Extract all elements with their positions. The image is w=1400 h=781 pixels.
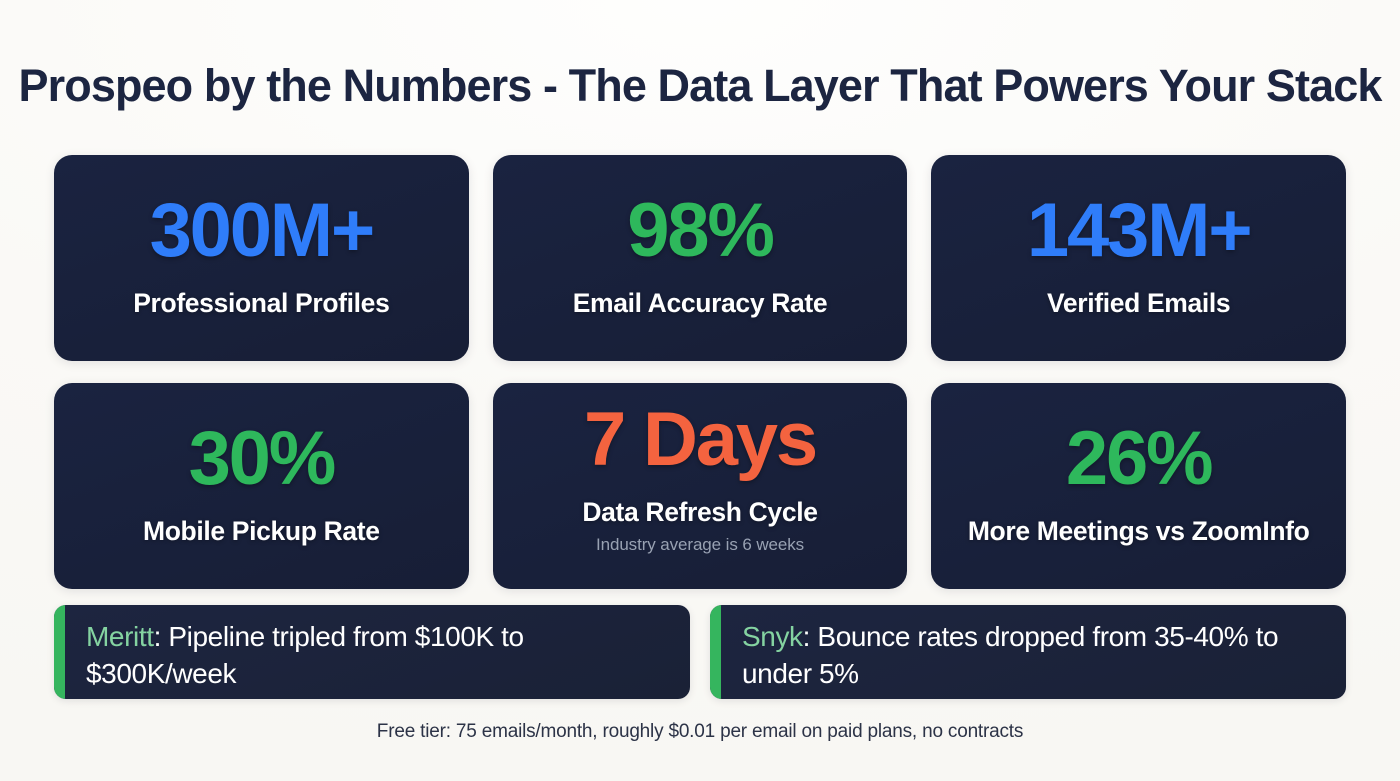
footer-pricing-note: Free tier: 75 emails/month, roughly $0.0… [0,721,1400,743]
quote-company-name: Meritt [86,621,154,652]
stat-value: 26% [1066,421,1212,500]
stat-label: Verified Emails [1047,288,1230,319]
quote-row: Meritt: Pipeline tripled from $100K to $… [54,605,1346,699]
infographic-page: Prospeo by the Numbers - The Data Layer … [0,0,1400,781]
quote-accent-bar [710,605,721,699]
stat-card: 30% Mobile Pickup Rate [54,383,469,589]
stat-card-grid: 300M+ Professional Profiles 98% Email Ac… [54,155,1346,589]
quote-accent-bar [54,605,65,699]
stat-card: 300M+ Professional Profiles [54,155,469,361]
quote-company-name: Snyk [742,621,803,652]
stat-card: 26% More Meetings vs ZoomInfo [931,383,1346,589]
stat-value: 30% [189,421,335,500]
stat-label: Data Refresh Cycle [582,497,817,528]
page-title: Prospeo by the Numbers - The Data Layer … [0,0,1400,110]
stat-card: 7 Days Data Refresh Cycle Industry avera… [493,383,908,589]
stat-value: 98% [627,193,773,272]
quote-text: Snyk: Bounce rates dropped from 35-40% t… [742,618,1328,692]
quote-body: Bounce rates dropped from 35-40% to unde… [742,621,1278,689]
stat-card: 98% Email Accuracy Rate [493,155,908,361]
quote-card: Meritt: Pipeline tripled from $100K to $… [54,605,690,699]
stat-value: 143M+ [1027,193,1251,272]
stat-label: Professional Profiles [133,288,389,319]
stat-label: Email Accuracy Rate [573,288,828,319]
stat-card: 143M+ Verified Emails [931,155,1346,361]
stat-sub-caption: Industry average is 6 weeks [596,535,804,555]
quote-separator: : [803,621,818,652]
quote-card: Snyk: Bounce rates dropped from 35-40% t… [710,605,1346,699]
stat-label: Mobile Pickup Rate [143,516,380,547]
stat-label: More Meetings vs ZoomInfo [968,516,1310,547]
stat-value: 7 Days [584,402,816,481]
stat-value: 300M+ [150,193,374,272]
quote-separator: : [154,621,169,652]
quote-text: Meritt: Pipeline tripled from $100K to $… [86,618,672,692]
